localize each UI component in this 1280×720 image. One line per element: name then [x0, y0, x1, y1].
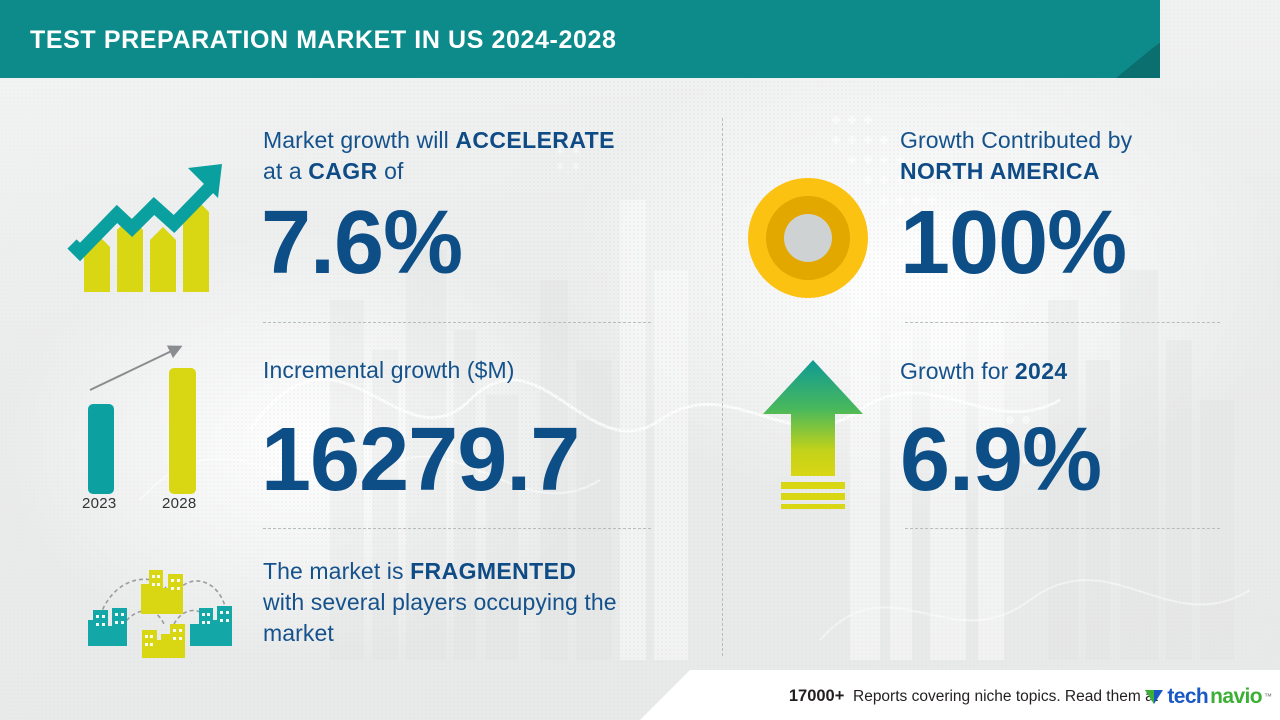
growth-chart-icon	[62, 152, 237, 297]
incremental-growth-value: 16279.7	[261, 415, 579, 505]
divider-left-1	[263, 322, 651, 323]
cagr-line2-suffix: of	[378, 158, 404, 184]
two-bar-chart-icon	[62, 330, 237, 520]
cagr-description: Market growth will ACCELERATE at a CAGR …	[263, 125, 683, 187]
fragmentation-line1-strong: FRAGMENTED	[410, 558, 576, 584]
yearly-growth-value: 6.9%	[900, 415, 1101, 505]
fragmentation-description: The market is FRAGMENTED with several pl…	[263, 556, 688, 649]
donut-circle-icon	[747, 177, 869, 299]
cagr-line2-prefix: at a	[263, 158, 308, 184]
yearly-growth-year: 2024	[1015, 358, 1068, 384]
header: TEST PREPARATION MARKET IN US 2024-2028	[0, 0, 1280, 78]
city-network-icon	[60, 558, 250, 663]
page-title: TEST PREPARATION MARKET IN US 2024-2028	[30, 26, 617, 55]
footer-text: 17000+ Reports covering niche topics. Re…	[789, 687, 1158, 706]
fragmentation-line3: market	[263, 620, 334, 646]
cagr-line1-strong: ACCELERATE	[455, 127, 614, 153]
column-divider	[722, 118, 723, 656]
fragmentation-line1-prefix: The market is	[263, 558, 410, 584]
divider-right-1	[905, 322, 1220, 323]
infographic-canvas: TEST PREPARATION MARKET IN US 2024-2028	[0, 0, 1280, 720]
up-arrow-icon	[758, 358, 868, 510]
cagr-line2-strong: CAGR	[308, 158, 377, 184]
incremental-growth-label: Incremental growth ($M)	[263, 355, 683, 386]
logo-trademark: ™	[1264, 692, 1272, 701]
region-contribution-value: 100%	[900, 198, 1126, 288]
cagr-line1-prefix: Market growth will	[263, 127, 455, 153]
cagr-value: 7.6%	[261, 198, 462, 288]
logo-text-tech: tech	[1167, 686, 1208, 707]
region-contribution-description: Growth Contributed by NORTH AMERICA	[900, 125, 1230, 187]
region-line1: Growth Contributed by	[900, 127, 1132, 153]
report-count: 17000+	[789, 687, 845, 705]
region-line2-strong: NORTH AMERICA	[900, 158, 1100, 184]
fragmentation-line2: with several players occupying the	[263, 589, 617, 615]
logo-text-navio: navio	[1210, 686, 1262, 707]
yearly-growth-label-prefix: Growth for	[900, 358, 1015, 384]
technavio-mark-icon	[1144, 686, 1165, 707]
footer-caption: Reports covering niche topics. Read them…	[853, 688, 1158, 705]
yearly-growth-label: Growth for 2024	[900, 356, 1230, 387]
divider-right-2	[905, 528, 1220, 529]
bar-caption-2028: 2028	[162, 495, 197, 512]
technavio-logo[interactable]: technavio™	[1144, 684, 1272, 708]
divider-left-2	[263, 528, 651, 529]
bar-caption-2023: 2023	[82, 495, 117, 512]
